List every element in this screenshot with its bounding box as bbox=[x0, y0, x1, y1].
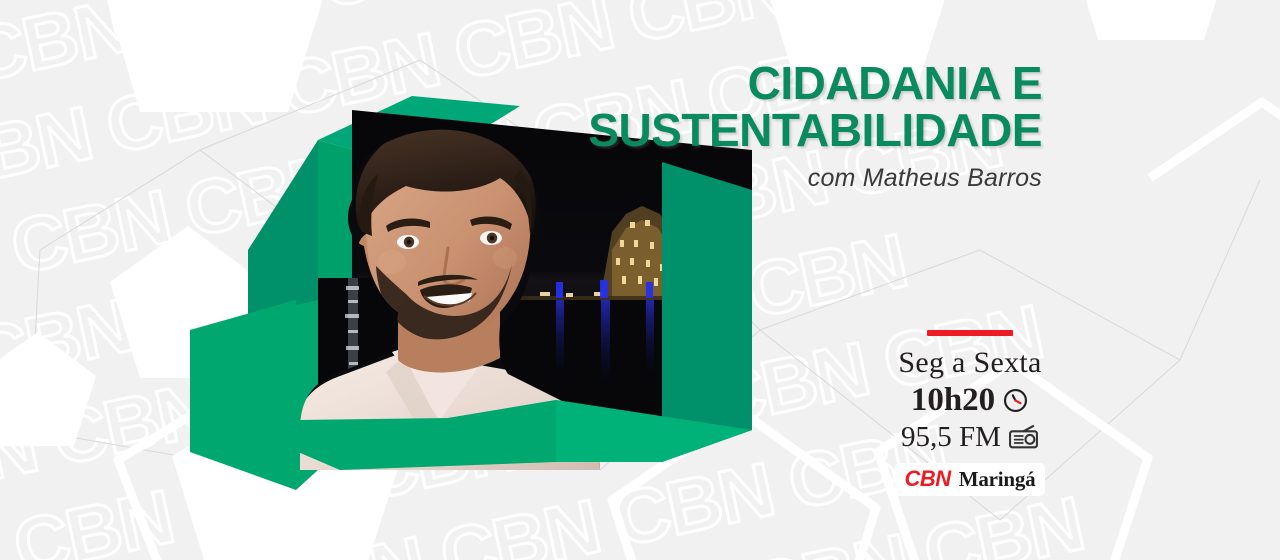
program-title-line-2: SUSTENTABILIDADE bbox=[522, 107, 1042, 154]
clock-icon bbox=[1002, 387, 1029, 414]
program-host-subtitle: com Matheus Barros bbox=[522, 164, 1042, 193]
broadcast-frequency: 95,5 FM bbox=[901, 421, 1001, 454]
radio-program-banner: CBN CBN CBN CBN CBN CBN CBN CBN CBN CBN … bbox=[0, 0, 1280, 560]
radio-icon bbox=[1008, 424, 1039, 451]
broadcast-time: 10h20 bbox=[911, 382, 995, 419]
cbn-maringa-logo: CBN Maringá bbox=[895, 463, 1046, 496]
cube-right-wall bbox=[662, 162, 752, 462]
program-title-block: CIDADANIA E SUSTENTABILIDADE com Matheus… bbox=[522, 60, 1042, 193]
broadcast-time-row: 10h20 bbox=[880, 382, 1060, 419]
cbn-logo-city: Maringá bbox=[959, 467, 1036, 492]
cbn-logo-mark: CBN bbox=[905, 466, 951, 492]
program-title-line-1: CIDADANIA E bbox=[522, 60, 1042, 107]
red-accent-bar bbox=[927, 330, 1013, 336]
schedule-block: Seg a Sexta 10h20 95,5 FM bbox=[880, 330, 1060, 496]
broadcast-frequency-row: 95,5 FM bbox=[880, 421, 1060, 454]
broadcast-days: Seg a Sexta bbox=[880, 346, 1060, 379]
